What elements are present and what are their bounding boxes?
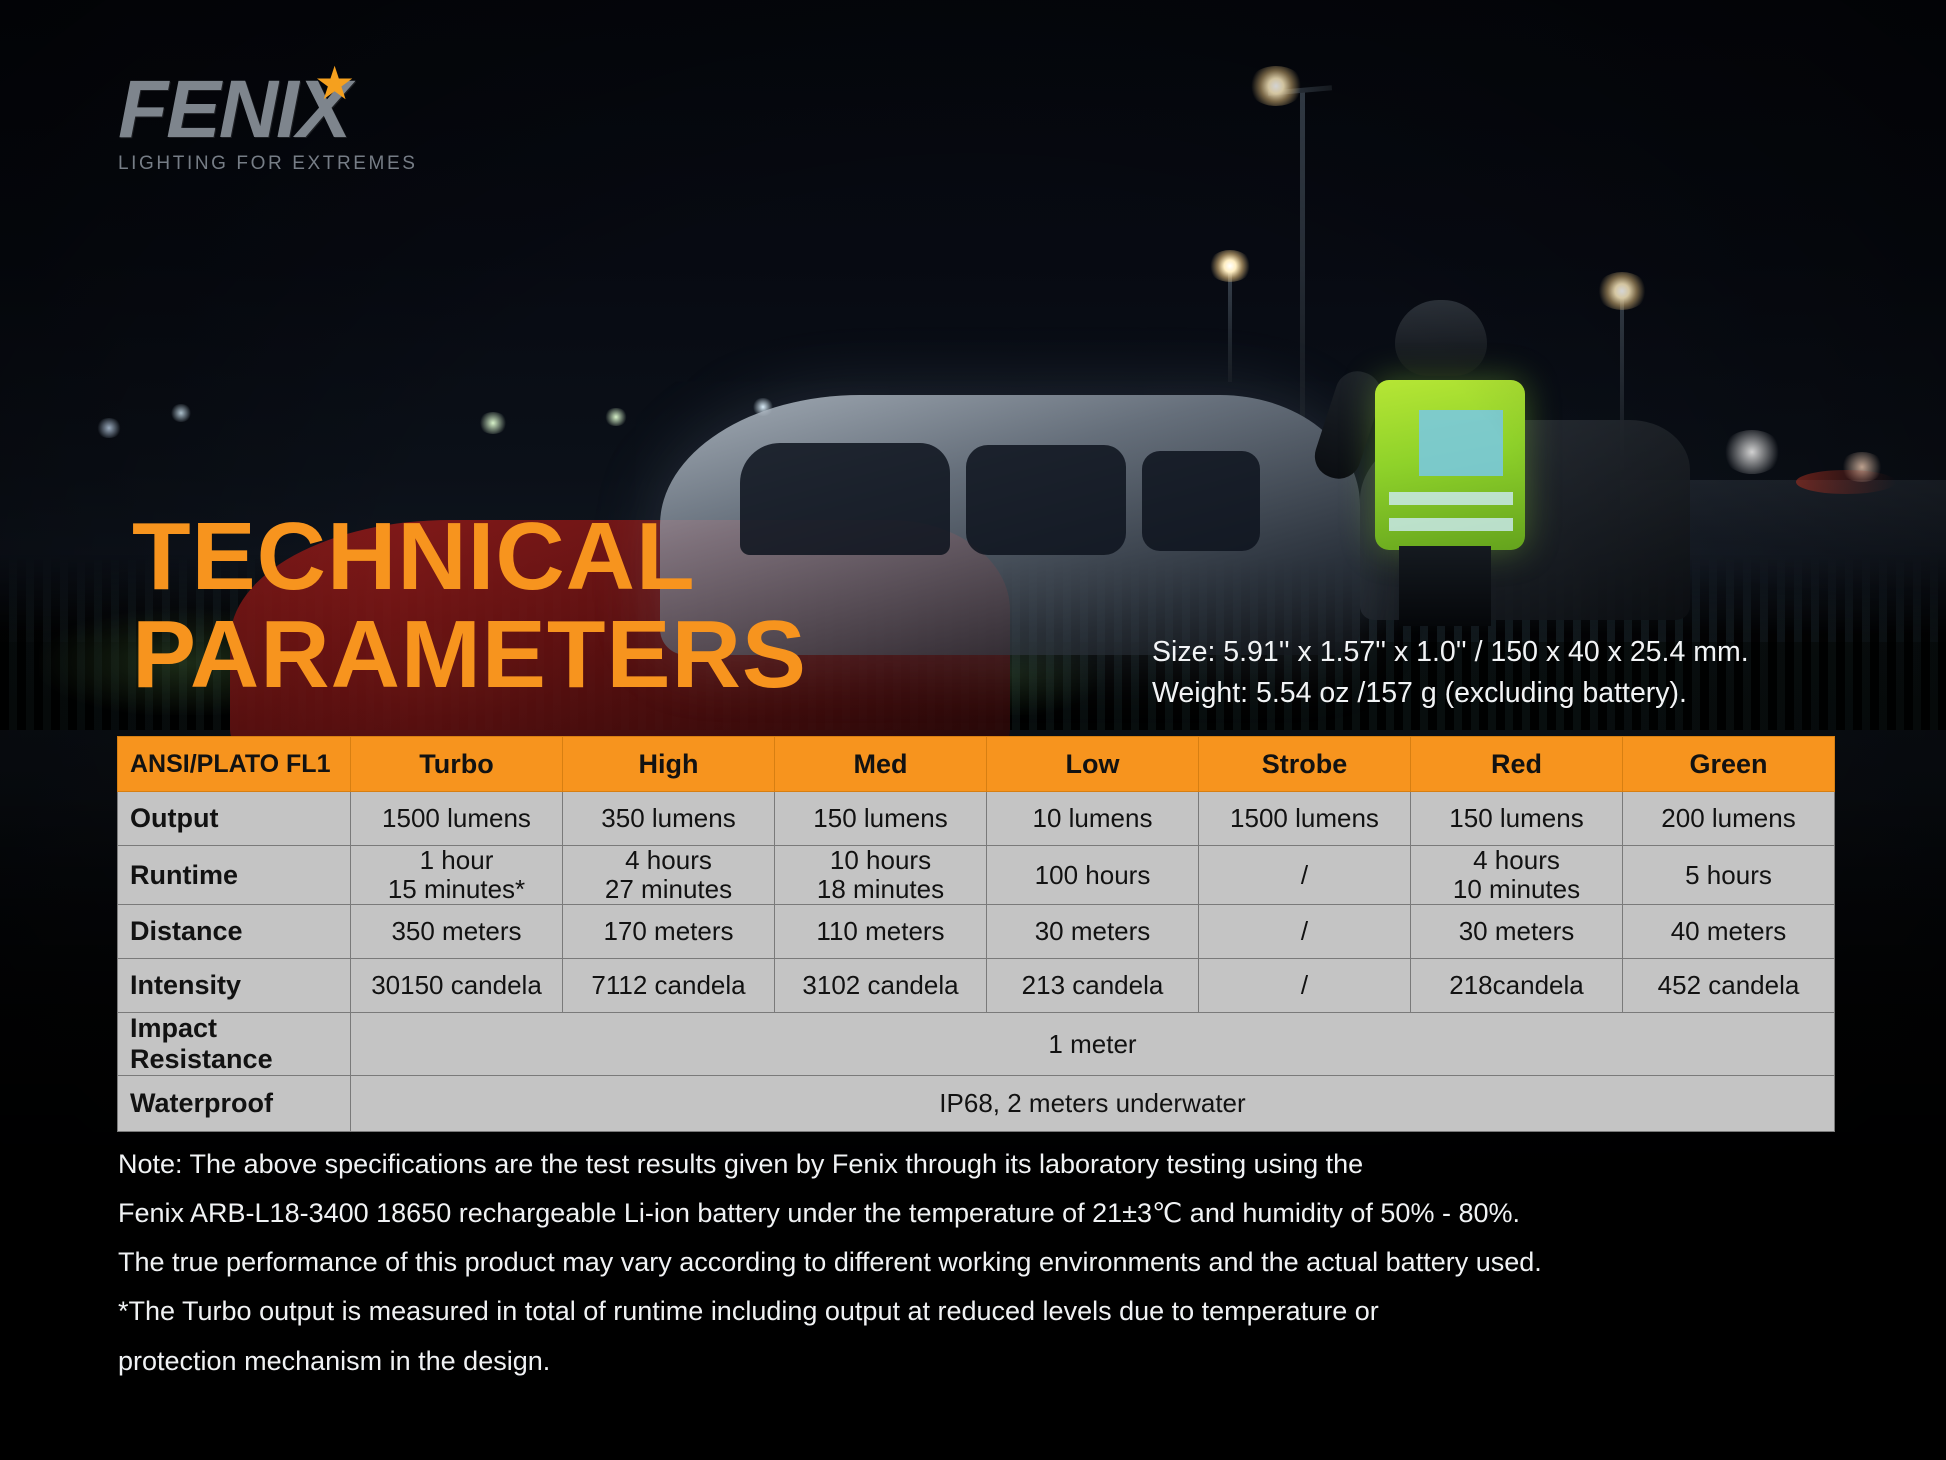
note-block: Note: The above specifications are the t… [118,1140,1838,1386]
cell-output-high: 350 lumens [563,792,775,846]
column-header-green: Green [1623,737,1835,792]
weight-text: Weight: 5.54 oz /157 g (excluding batter… [1152,673,1749,714]
row-label-distance: Distance [118,905,351,959]
table-header-row: ANSI/PLATO FL1 Turbo High Med Low Strobe… [118,737,1835,792]
cell-intensity-med: 3102 candela [775,959,987,1013]
cell-intensity-green: 452 candela [1623,959,1835,1013]
brand-logo: ★ FENIX LIGHTING FOR EXTREMES [118,72,538,175]
cell-line: 10 minutes [1411,875,1622,904]
cell-intensity-red: 218candela [1411,959,1623,1013]
cell-intensity-high: 7112 candela [563,959,775,1013]
cell-distance-low: 30 meters [987,905,1199,959]
cell-line: 1 hour [351,846,562,875]
note-line: Note: The above specifications are the t… [118,1140,1838,1189]
cell-runtime-green: 5 hours [1623,846,1835,905]
cell-impact-resistance-value: 1 meter [351,1013,1835,1076]
cell-line: 15 minutes* [351,875,562,904]
cell-output-strobe: 1500 lumens [1199,792,1411,846]
row-label-output: Output [118,792,351,846]
cell-output-med: 150 lumens [775,792,987,846]
row-label-waterproof: Waterproof [118,1076,351,1132]
column-header-low: Low [987,737,1199,792]
column-header-med: Med [775,737,987,792]
cell-runtime-high: 4 hours 27 minutes [563,846,775,905]
cell-distance-green: 40 meters [1623,905,1835,959]
row-label-intensity: Intensity [118,959,351,1013]
cell-line: 4 hours [1411,846,1622,875]
table-body: Output 1500 lumens 350 lumens 150 lumens… [118,792,1835,1132]
column-header-high: High [563,737,775,792]
row-label-impact-resistance: Impact Resistance [118,1013,351,1076]
technical-parameters-table: ANSI/PLATO FL1 Turbo High Med Low Strobe… [117,736,1835,1132]
cell-line: 4 hours [563,846,774,875]
cell-distance-med: 110 meters [775,905,987,959]
row-label-runtime: Runtime [118,846,351,905]
cell-output-red: 150 lumens [1411,792,1623,846]
size-text: Size: 5.91'' x 1.57'' x 1.0'' / 150 x 40… [1152,632,1749,673]
cell-distance-turbo: 350 meters [351,905,563,959]
table-row: Output 1500 lumens 350 lumens 150 lumens… [118,792,1835,846]
cell-line: 18 minutes [775,875,986,904]
cell-runtime-turbo: 1 hour 15 minutes* [351,846,563,905]
column-header-turbo: Turbo [351,737,563,792]
column-header-strobe: Strobe [1199,737,1411,792]
cell-runtime-low: 100 hours [987,846,1199,905]
cell-distance-red: 30 meters [1411,905,1623,959]
table-row: Runtime 1 hour 15 minutes* 4 hours 27 mi… [118,846,1835,905]
cell-runtime-red: 4 hours 10 minutes [1411,846,1623,905]
table-header: ANSI/PLATO FL1 Turbo High Med Low Strobe… [118,737,1835,792]
cell-intensity-low: 213 candela [987,959,1199,1013]
cell-intensity-strobe: / [1199,959,1411,1013]
cell-output-green: 200 lumens [1623,792,1835,846]
cell-runtime-strobe: / [1199,846,1411,905]
dimensions-block: Size: 5.91'' x 1.57'' x 1.0'' / 150 x 40… [1152,632,1749,715]
page-title-line2: PARAMETERS [132,606,807,704]
cell-distance-strobe: / [1199,905,1411,959]
cell-line: 10 hours [775,846,986,875]
brand-tagline: LIGHTING FOR EXTREMES [118,153,538,175]
cell-line: 27 minutes [563,875,774,904]
page-title-line1: TECHNICAL [132,508,807,606]
cell-runtime-med: 10 hours 18 minutes [775,846,987,905]
cell-output-low: 10 lumens [987,792,1199,846]
cell-waterproof-value: IP68, 2 meters underwater [351,1076,1835,1132]
table-row: Distance 350 meters 170 meters 110 meter… [118,905,1835,959]
cell-distance-high: 170 meters [563,905,775,959]
note-line: *The Turbo output is measured in total o… [118,1287,1838,1336]
note-line: The true performance of this product may… [118,1238,1838,1287]
note-line: Fenix ARB-L18-3400 18650 rechargeable Li… [118,1189,1838,1238]
table-row: Waterproof IP68, 2 meters underwater [118,1076,1835,1132]
column-header-red: Red [1411,737,1623,792]
note-line: protection mechanism in the design. [118,1337,1838,1386]
table-row: Impact Resistance 1 meter [118,1013,1835,1076]
table-row: Intensity 30150 candela 7112 candela 310… [118,959,1835,1013]
star-icon: ★ [314,60,354,112]
cell-output-turbo: 1500 lumens [351,792,563,846]
column-header-ansi: ANSI/PLATO FL1 [118,737,351,792]
cell-intensity-turbo: 30150 candela [351,959,563,1013]
page-title: TECHNICAL PARAMETERS [132,508,807,704]
